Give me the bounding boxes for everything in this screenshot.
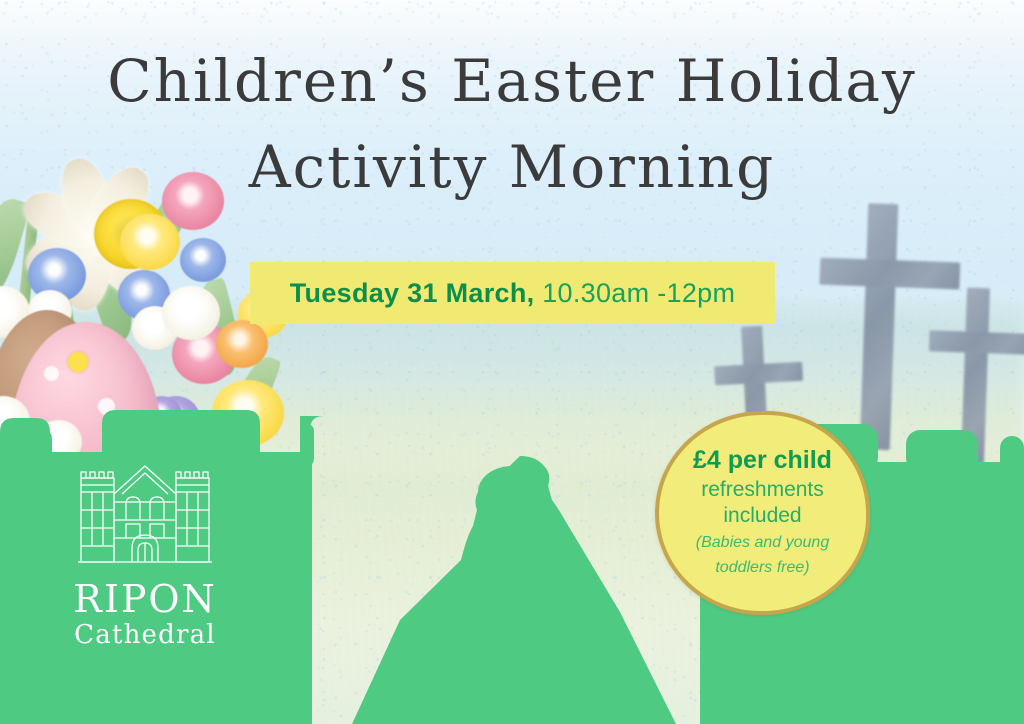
logo-name-secondary: Cathedral [60,622,230,648]
page-title-line-1: Children’s Easter Holiday [0,52,1024,110]
refreshments-line-1: refreshments [701,477,824,502]
easter-activity-poster: Children’s Easter Holiday Activity Morni… [0,0,1024,724]
page-title-line-2: Activity Morning [0,138,1024,196]
refreshments-line-2: included [723,503,801,528]
ripon-cathedral-logo: RIPON Cathedral [60,458,230,654]
event-date-label: Tuesday 31 March, [290,278,535,308]
date-time-banner: Tuesday 31 March, 10.30am -12pm [250,262,775,324]
price-roundel: £4 per child refreshments included (Babi… [655,411,870,615]
date-time-text: Tuesday 31 March, 10.30am -12pm [290,278,736,309]
toddlers-note-line-1: (Babies and young [696,533,829,553]
price-label: £4 per child [693,446,832,474]
event-time-label: 10.30am -12pm [534,278,735,308]
logo-name-primary: RIPON [60,580,230,618]
cathedral-west-front-icon [70,458,220,572]
poster-headings: Children’s Easter Holiday Activity Morni… [0,52,1024,196]
toddlers-note-line-2: toddlers free) [715,558,809,578]
